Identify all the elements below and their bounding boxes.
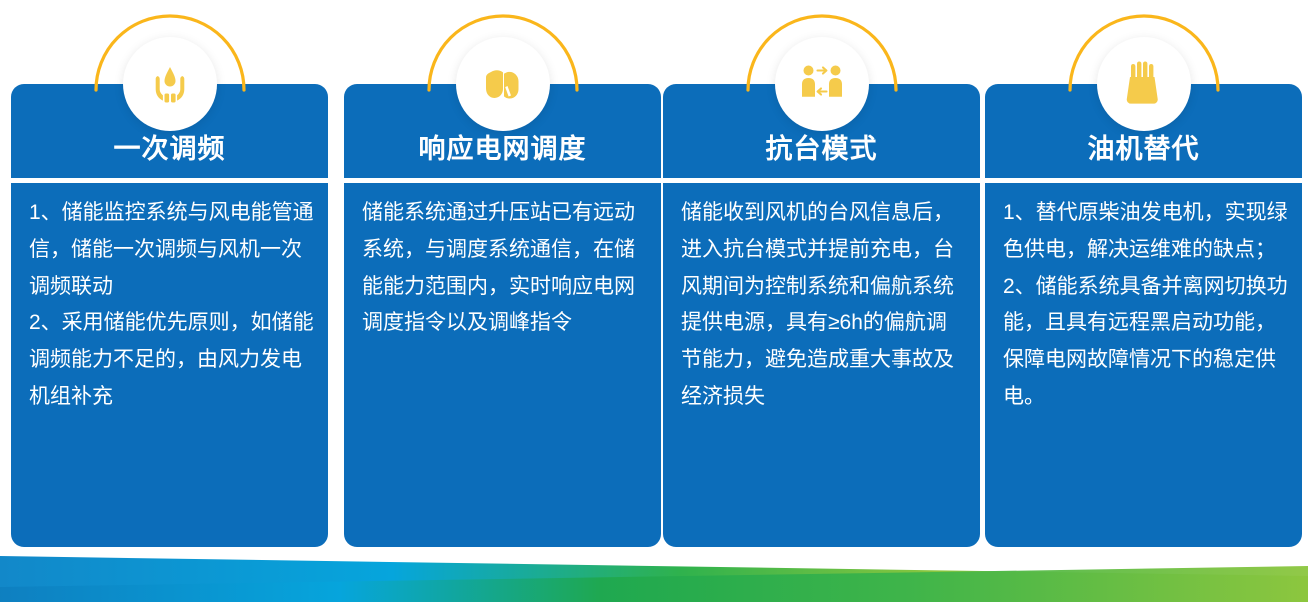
feature-card[interactable]: 油机替代 1、替代原柴油发电机，实现绿色供电，解决运维难的缺点； 2、储能系统具… [985,84,1302,547]
icon-badge [456,37,550,131]
open-palm-icon [1122,60,1166,108]
two-people-exchange-icon [798,62,846,106]
slide-root: 一次调频 1、储能监控系统与风电能管通信，储能一次调频与风机一次调频联动 2、采… [0,0,1308,602]
feature-card[interactable]: 一次调频 1、储能监控系统与风电能管通信，储能一次调频与风机一次调频联动 2、采… [11,84,328,547]
feature-card[interactable]: 响应电网调度 储能系统通过升压站已有远动系统，与调度系统通信，在储能能力范围内，… [344,84,661,547]
feature-card[interactable]: 抗台模式 储能收到风机的台风信息后，进入抗台模式并提前充电，台风期间为控制系统和… [663,84,980,547]
card-divider [985,178,1302,183]
icon-badge [123,37,217,131]
card-body-text: 储能收到风机的台风信息后，进入抗台模式并提前充电，台风期间为控制系统和偏航系统提… [681,195,966,416]
icon-badge [775,37,869,131]
card-title: 响应电网调度 [344,136,661,163]
card-divider [344,178,661,183]
card-divider [11,178,328,183]
card-divider [663,178,980,183]
card-title: 抗台模式 [663,136,980,163]
card-title: 油机替代 [985,136,1302,163]
card-body-text: 储能系统通过升压站已有远动系统，与调度系统通信，在储能能力范围内，实时响应电网调… [362,195,647,342]
wave-ribbon-decoration [0,530,1308,602]
card-title: 一次调频 [11,136,328,163]
feature-card-grid: 一次调频 1、储能监控系统与风电能管通信，储能一次调频与风机一次调频联动 2、采… [11,0,1297,548]
icon-badge [1097,37,1191,131]
card-body-text: 1、储能监控系统与风电能管通信，储能一次调频与风机一次调频联动 2、采用储能优先… [29,195,314,416]
hands-holding-droplet-icon [145,59,195,109]
card-body-text: 1、替代原柴油发电机，实现绿色供电，解决运维难的缺点； 2、储能系统具备并离网切… [1003,195,1288,416]
hand-signal-icon [480,61,526,107]
